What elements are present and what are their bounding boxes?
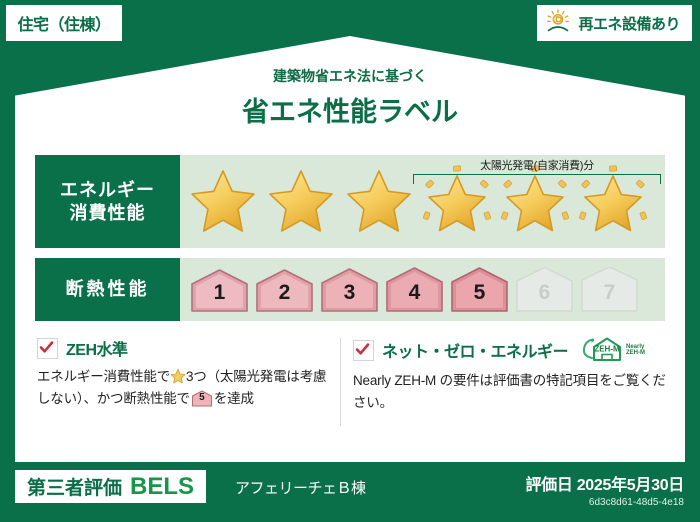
renewable-equipment-badge: 再エネ設備あり xyxy=(537,5,692,41)
star-icon xyxy=(342,165,416,239)
zeh-standard-title: ZEH水準 xyxy=(66,336,128,360)
zeh-m-logo-sub2: ZEH-M xyxy=(626,350,645,356)
house-type-chip: 住宅（住棟） xyxy=(6,5,122,41)
grade-badge: 3 xyxy=(318,267,381,313)
solar-star-icon xyxy=(576,165,650,239)
zeh-body-part3: を達成 xyxy=(214,391,254,406)
building-name: アフェリーチェＢ棟 xyxy=(235,477,366,498)
grade-badge-inactive: 7 xyxy=(578,267,641,313)
grade-value: 5 xyxy=(474,281,486,313)
footer-bar: 第三者評価 BELS アフェリーチェＢ棟 評価日 2025年5月30日 6d3c… xyxy=(0,462,700,522)
grade-badge: 1 xyxy=(188,267,251,313)
info-divider xyxy=(340,338,341,426)
energy-label-line1: エネルギー xyxy=(60,179,155,202)
inline-grade-value: 5 xyxy=(191,390,213,407)
grade-scale: 1 2 3 xyxy=(180,258,665,321)
bels-en-label: BELS xyxy=(130,473,194,501)
page-title: 省エネ性能ラベル xyxy=(15,90,685,129)
evaluation-date: 評価日 2025年5月30日 xyxy=(525,471,684,495)
grade-badge-inactive: 6 xyxy=(513,267,576,313)
zeh-m-logo: ZEH-M Nearly ZEH-M xyxy=(580,336,645,364)
bels-jp-label: 第三者評価 xyxy=(27,473,122,500)
star-icon xyxy=(264,165,338,239)
evaluation-id: 6d3c8d61-48d5-4e18 xyxy=(525,497,684,508)
label-panel: 建築物省エネ法に基づく 省エネ性能ラベル エネルギー 消費性能 xyxy=(15,36,685,462)
energy-performance-label-box: エネルギー 消費性能 xyxy=(35,155,180,248)
zeh-body-part1: エネルギー消費性能で xyxy=(37,369,170,384)
title-subtitle: 建築物省エネ法に基づく xyxy=(15,66,685,86)
zeh-standard-header: ZEH水準 xyxy=(37,336,337,360)
check-icon xyxy=(353,340,374,361)
star-icon xyxy=(186,165,260,239)
grade-badge: 2 xyxy=(253,267,316,313)
grade-value: 7 xyxy=(604,281,616,313)
star-rating xyxy=(180,155,665,248)
grade-value: 2 xyxy=(279,281,291,313)
net-zero-energy-block: ネット・ゼロ・エネルギー ZEH-M Nearly ZEH-M Nearl xyxy=(353,336,673,414)
grade-value: 1 xyxy=(214,281,226,313)
insulation-label: 断熱性能 xyxy=(66,278,150,301)
svg-text:ZEH-M: ZEH-M xyxy=(594,345,620,354)
insulation-performance-label-box: 断熱性能 xyxy=(35,258,180,321)
net-zero-energy-title: ネット・ゼロ・エネルギー xyxy=(382,338,568,362)
solar-star-icon xyxy=(420,165,494,239)
energy-performance-label: 住宅（住棟） 再エネ設備あり 建築物 xyxy=(0,0,700,522)
zeh-standard-body: エネルギー消費性能で3つ（太陽光発電は考慮しない）、かつ断熱性能で5を達成 xyxy=(37,366,337,410)
solar-star-icon xyxy=(498,165,572,239)
inline-star-icon xyxy=(170,368,186,384)
grade-badge: 4 xyxy=(383,267,446,313)
grade-value: 6 xyxy=(539,281,551,313)
energy-stars-area: 太陽光発電(自家消費)分 xyxy=(180,155,665,248)
net-zero-energy-body: Nearly ZEH-M の要件は評価書の特記項目をご覧ください。 xyxy=(353,370,673,414)
house-type-label: 住宅（住棟） xyxy=(17,11,110,35)
zeh-standard-block: ZEH水準 エネルギー消費性能で3つ（太陽光発電は考慮しない）、かつ断熱性能で5… xyxy=(37,336,337,410)
energy-performance-row: エネルギー 消費性能 xyxy=(35,155,665,248)
grade-value: 4 xyxy=(409,281,421,313)
net-zero-energy-header: ネット・ゼロ・エネルギー ZEH-M Nearly ZEH-M xyxy=(353,336,673,364)
renewable-badge-label: 再エネ設備あり xyxy=(578,13,680,34)
energy-label-line2: 消費性能 xyxy=(70,202,146,225)
insulation-performance-row: 断熱性能 1 2 xyxy=(35,258,665,321)
insulation-grades-area: 1 2 3 xyxy=(180,258,665,321)
evaluation-info: 評価日 2025年5月30日 6d3c8d61-48d5-4e18 xyxy=(525,471,684,508)
inline-grade-badge: 5 xyxy=(191,390,213,407)
check-icon xyxy=(37,338,58,359)
bels-badge: 第三者評価 BELS xyxy=(15,470,206,503)
solar-sun-icon xyxy=(545,9,571,38)
grade-value: 3 xyxy=(344,281,356,313)
grade-badge: 5 xyxy=(448,267,511,313)
title-block: 建築物省エネ法に基づく 省エネ性能ラベル xyxy=(15,66,685,129)
